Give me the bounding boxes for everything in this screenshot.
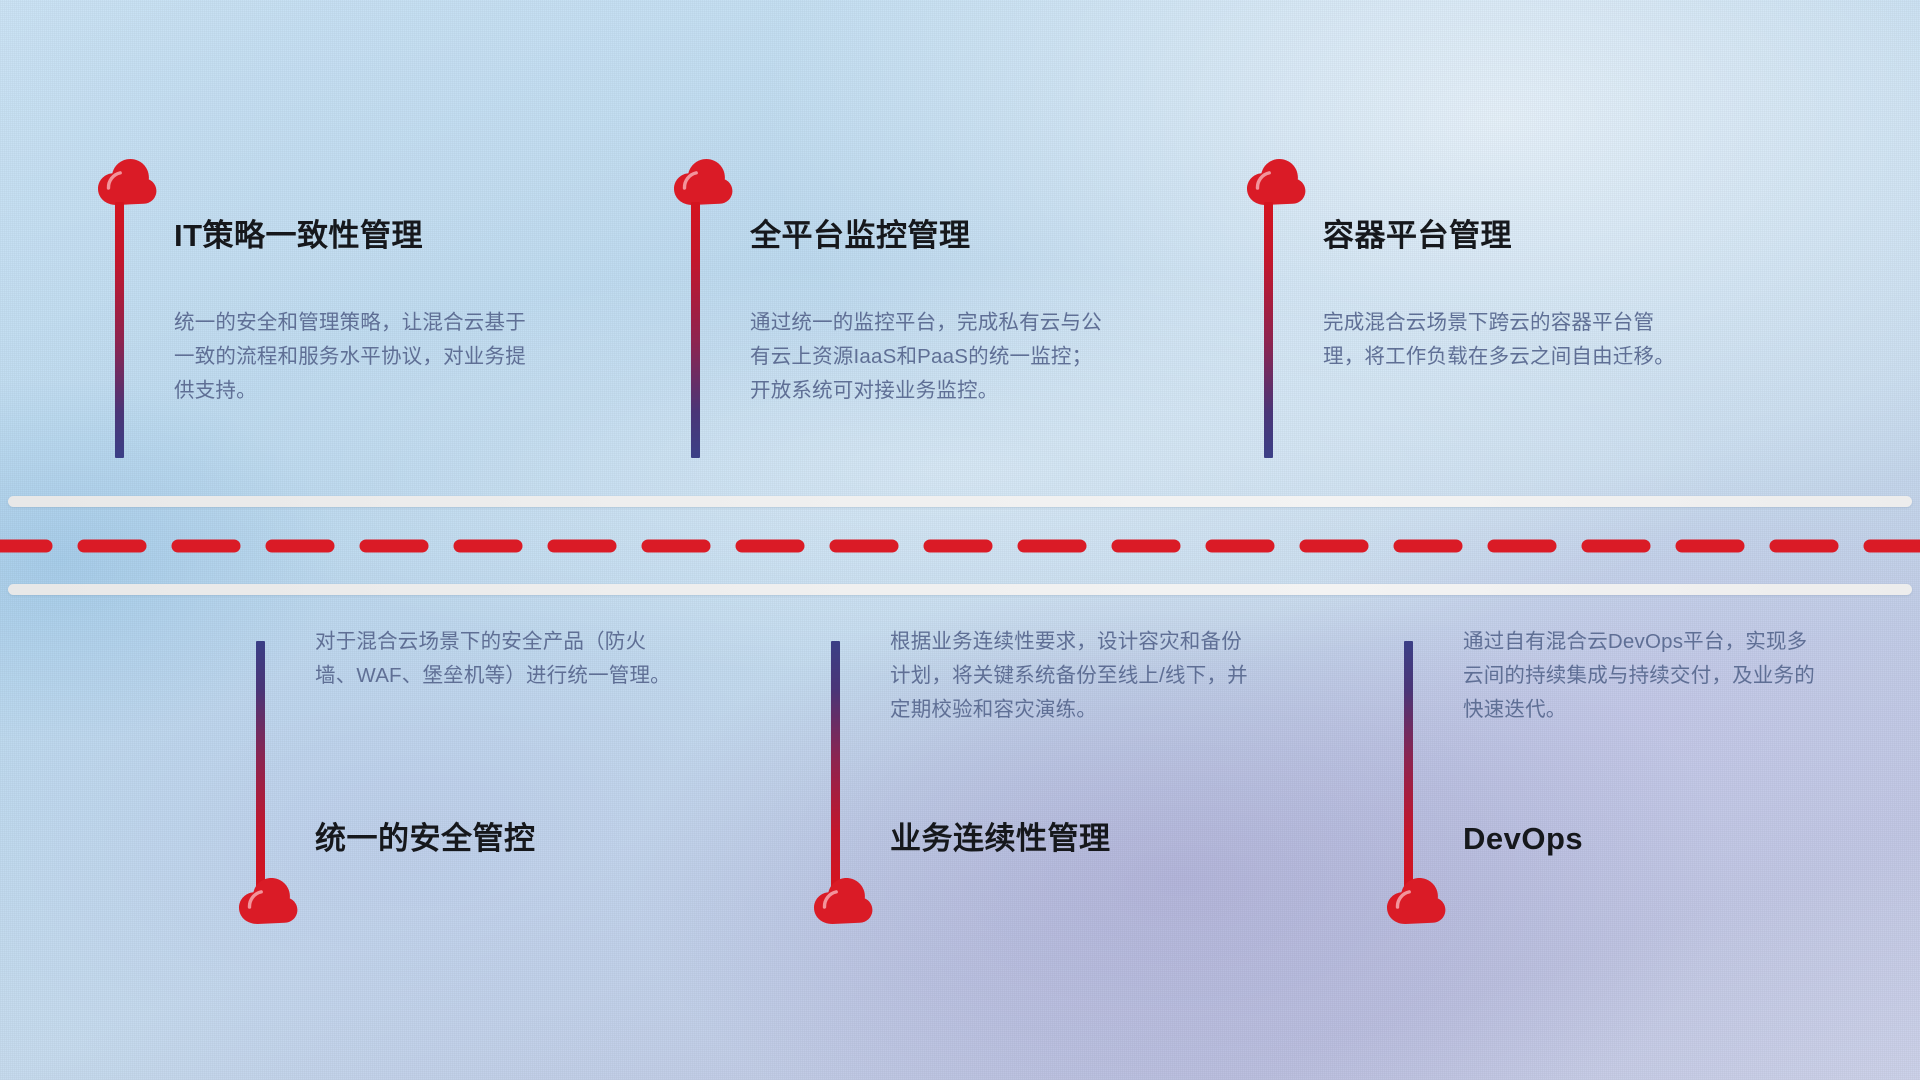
cloud-shape <box>1387 878 1445 924</box>
cloud-shape <box>674 159 732 205</box>
cloud-icon <box>237 877 299 925</box>
cloud-icon <box>1385 877 1447 925</box>
connector-stem <box>691 202 700 458</box>
connector-stem <box>115 202 124 458</box>
cloud-shape <box>239 878 297 924</box>
connector-stem <box>1404 641 1413 887</box>
cloud-icon <box>1245 158 1307 206</box>
feature-body: 通过自有混合云DevOps平台，实现多云间的持续集成与持续交付，及业务的快速迭代… <box>1463 625 1823 727</box>
cloud-icon <box>96 158 158 206</box>
feature-heading: 全平台监控管理 <box>750 220 971 251</box>
cloud-shape <box>814 878 872 924</box>
connector-stem <box>831 641 840 887</box>
cloud-icon <box>812 877 874 925</box>
connector-stem <box>1264 202 1273 458</box>
feature-body: 对于混合云场景下的安全产品（防火墙、WAF、堡垒机等）进行统一管理。 <box>315 625 675 693</box>
center-divider <box>0 488 1920 604</box>
feature-heading: 容器平台管理 <box>1323 220 1512 251</box>
feature-heading: IT策略一致性管理 <box>174 220 423 251</box>
dashed-road-line <box>0 538 1920 554</box>
feature-body: 通过统一的监控平台，完成私有云与公有云上资源IaaS和PaaS的统一监控；开放系… <box>750 306 1110 408</box>
feature-heading: 业务连续性管理 <box>890 823 1111 854</box>
divider-rail-bottom <box>8 584 1912 595</box>
feature-body: 根据业务连续性要求，设计容灾和备份计划，将关键系统备份至线上/线下，并定期校验和… <box>890 625 1250 727</box>
divider-rail-top <box>8 496 1912 507</box>
feature-body: 统一的安全和管理策略，让混合云基于一致的流程和服务水平协议，对业务提供支持。 <box>174 306 534 408</box>
feature-body: 完成混合云场景下跨云的容器平台管理，将工作负载在多云之间自由迁移。 <box>1323 306 1683 374</box>
connector-stem <box>256 641 265 887</box>
feature-heading: 统一的安全管控 <box>315 823 536 854</box>
cloud-icon <box>672 158 734 206</box>
cloud-shape <box>98 159 156 205</box>
feature-heading: DevOps <box>1463 823 1583 854</box>
cloud-shape <box>1247 159 1305 205</box>
